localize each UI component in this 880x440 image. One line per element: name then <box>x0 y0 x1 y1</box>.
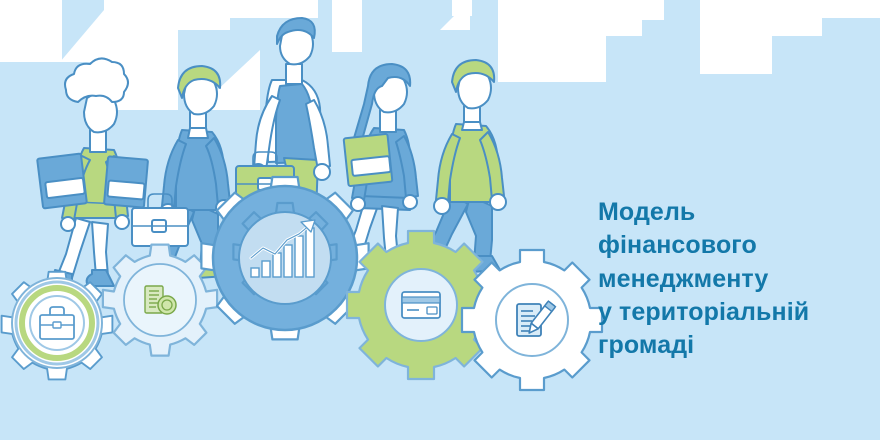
gear-document-sign <box>462 250 602 390</box>
gear-financial-report <box>103 245 217 356</box>
title-line-2: фінансового <box>598 229 870 262</box>
promo-banner: .bg { fill: #c7e5f8; } .bld { fill: #fff… <box>0 0 880 440</box>
gear-growth-chart <box>201 177 368 339</box>
page-title: Модель фінансового менеджменту у територ… <box>598 196 870 362</box>
title-line-4: у територіальній <box>598 296 870 329</box>
title-line-3: менеджменту <box>598 263 870 296</box>
title-line-1: Модель <box>598 196 870 229</box>
credit-card-icon <box>402 292 440 318</box>
gear-payment-card <box>347 231 495 379</box>
title-line-5: громаді <box>598 329 870 362</box>
